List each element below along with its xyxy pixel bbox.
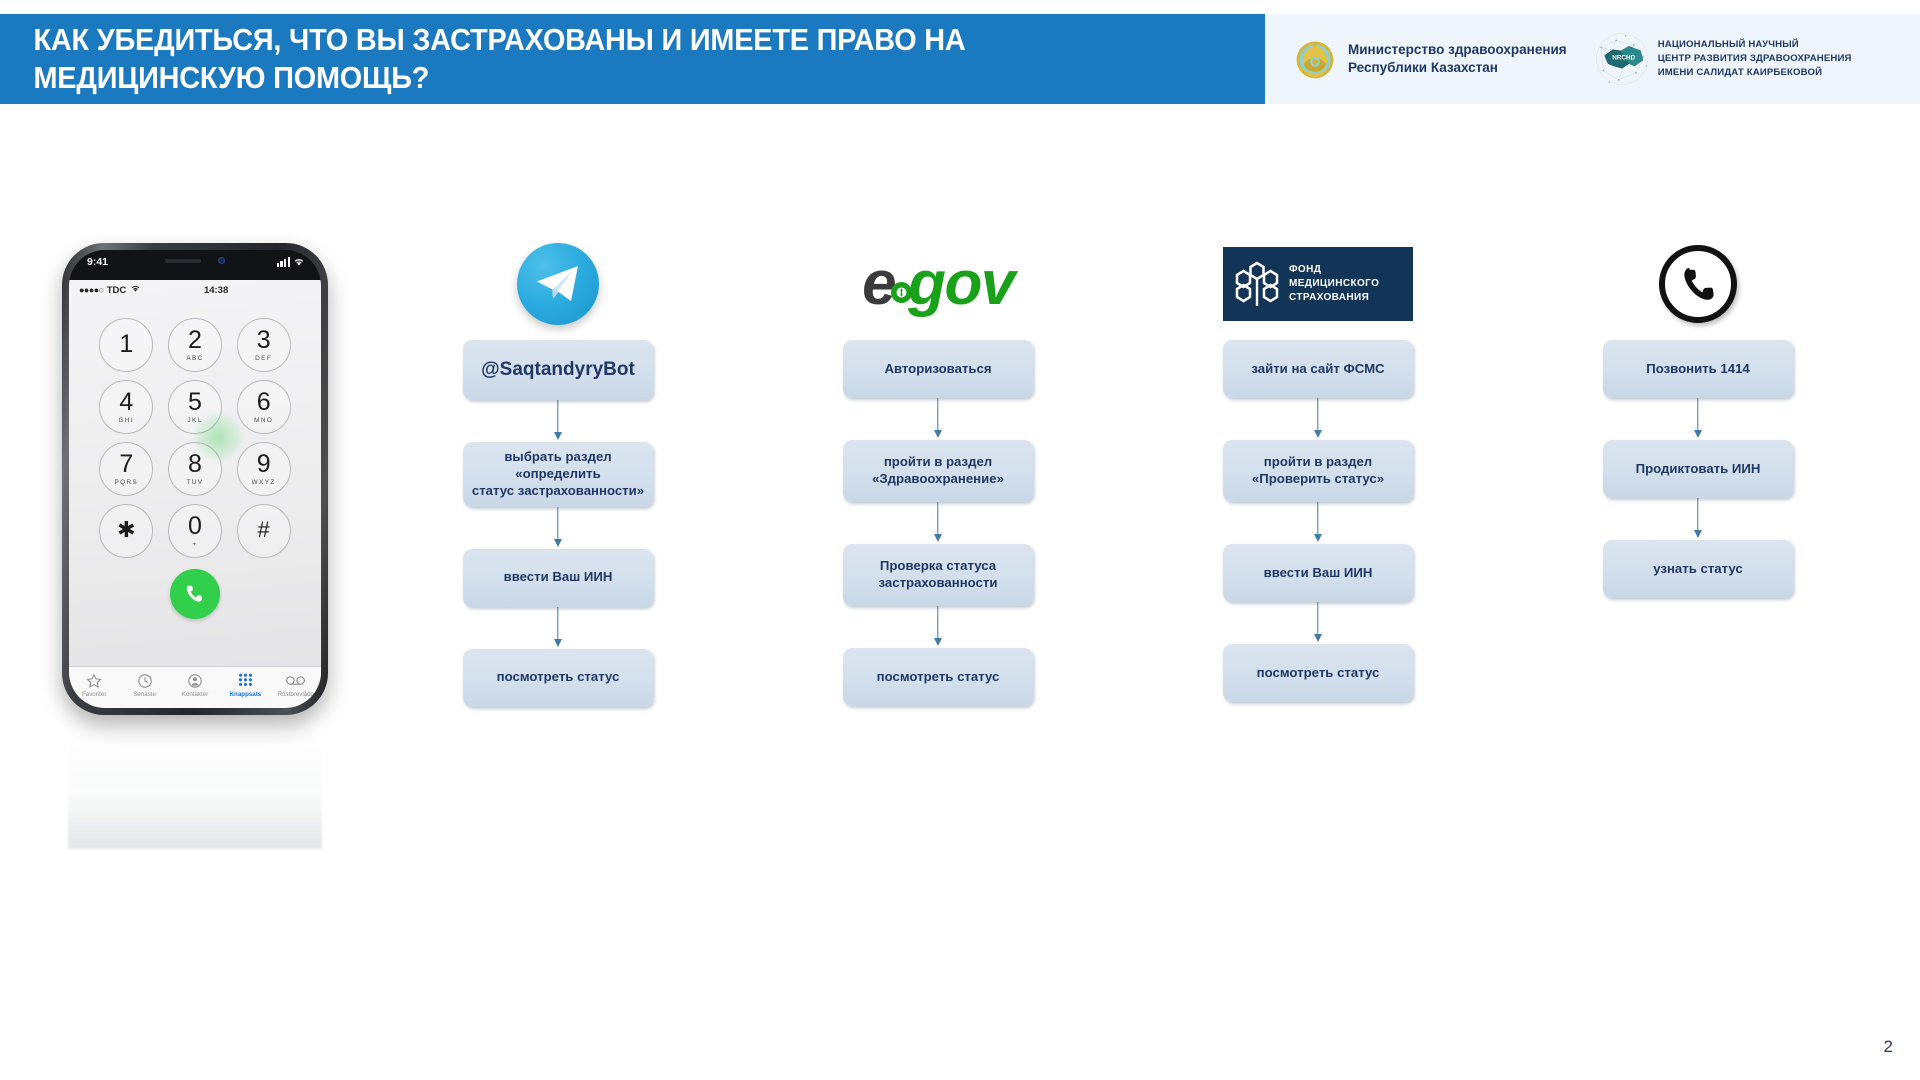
step-flow: @SaqtandyryBot выбрать раздел «определит… (368, 340, 748, 707)
keypad-grid-icon (237, 672, 254, 689)
cellular-bars-icon (277, 257, 290, 267)
key-letters: MNO (254, 417, 273, 424)
egov-letter-e: e (862, 259, 895, 309)
page-title: КАК УБЕДИТЬСЯ, ЧТО ВЫ ЗАСТРАХОВАНЫ И ИМЕ… (0, 21, 993, 98)
key-digit: 2 (188, 328, 202, 353)
step-flow: Авторизоваться пройти в раздел «Здравоох… (748, 340, 1128, 706)
phone-reflection (68, 717, 322, 849)
tab-senaste[interactable]: Senaste (119, 672, 169, 698)
dial-key-9[interactable]: 9 WXYZ (237, 442, 291, 496)
key-digit: 6 (257, 390, 271, 415)
fsms-logo-text: ФОНД МЕДИЦИНСКОГО СТРАХОВАНИЯ (1289, 263, 1379, 306)
step-box[interactable]: ввести Ваш ИИН (1223, 544, 1413, 602)
earpiece-speaker (165, 259, 201, 263)
key-letters: PQRS (114, 479, 138, 486)
step-box[interactable]: Авторизоваться (843, 340, 1033, 398)
flow-arrow-icon (1311, 398, 1325, 440)
nrchd-mark-label: NRCHD (1612, 55, 1635, 62)
person-icon (187, 672, 203, 689)
dial-key-7[interactable]: 7 PQRS (99, 442, 153, 496)
tab-label: Senaste (133, 691, 156, 698)
key-digit: 7 (119, 452, 133, 477)
voicemail-icon (286, 672, 305, 689)
key-digit: 5 (188, 390, 202, 415)
column-fsms: ФОНД МЕДИЦИНСКОГО СТРАХОВАНИЯ зайти на с… (1128, 228, 1508, 838)
dialer-tab-bar[interactable]: Favoriter Senaste Kontakter (69, 666, 321, 708)
key-digit: 8 (188, 452, 202, 477)
dial-key-hash[interactable]: # (237, 504, 291, 558)
flow-arrow-icon (931, 606, 945, 648)
tab-favoriter[interactable]: Favoriter (69, 672, 119, 698)
step-box[interactable]: Позвонить 1414 (1603, 340, 1793, 398)
dial-key-4[interactable]: 4 GHI (99, 380, 153, 434)
status-bar-time: 9:41 (87, 256, 108, 268)
phone-mockup: 9:41 ●●●●○ (62, 243, 328, 733)
step-box[interactable]: Продиктовать ИИН (1603, 440, 1793, 498)
carrier-name: TDC (107, 285, 127, 296)
step-box[interactable]: пройти в раздел «Проверить статус» (1223, 440, 1413, 502)
flow-arrow-icon (551, 400, 565, 442)
step-box[interactable]: посмотреть статус (1223, 644, 1413, 702)
column-logo (1659, 228, 1737, 340)
step-box[interactable]: зайти на сайт ФСМС (1223, 340, 1413, 398)
call-button[interactable] (170, 569, 220, 619)
tab-label: Knappsats (230, 691, 262, 698)
column-logo: ФОНД МЕДИЦИНСКОГО СТРАХОВАНИЯ (1223, 228, 1413, 340)
header-logo-group: Министерство здравоохранения Республики … (1278, 14, 1920, 104)
key-digit: 4 (119, 390, 133, 415)
star-icon (86, 672, 102, 689)
key-letters: DEF (255, 355, 272, 362)
clock-icon (137, 672, 153, 689)
phone-call-circle-icon (1659, 245, 1737, 323)
key-digit: ✱ (117, 519, 135, 541)
wifi-icon (130, 284, 141, 296)
dial-key-0[interactable]: 0 + (168, 504, 222, 558)
step-box[interactable]: пройти в раздел «Здравоохранение» (843, 440, 1033, 502)
flow-arrow-icon (551, 507, 565, 549)
wifi-icon (293, 257, 305, 267)
column-logo (517, 228, 599, 340)
dial-key-1[interactable]: 1 (99, 318, 153, 372)
column-egov: e gov Авторизоваться пройти в раздел «Зд… (748, 228, 1128, 838)
phone-shell: 9:41 ●●●●○ (62, 243, 328, 715)
key-letters: + (192, 541, 197, 548)
egov-word-gov: gov (908, 259, 1014, 309)
tab-rostbrevlada[interactable]: Röstbrevlåda (271, 672, 321, 698)
key-digit: 9 (257, 452, 271, 477)
signal-dots-icon: ●●●●○ (79, 285, 104, 295)
telegram-icon (517, 243, 599, 325)
key-digit: 0 (188, 514, 202, 539)
page-number: 2 (1884, 1037, 1893, 1057)
fsms-hexagon-flower-icon (1234, 259, 1280, 309)
tab-knappsats[interactable]: Knappsats (220, 672, 270, 698)
key-digit: # (258, 519, 270, 541)
flow-arrow-icon (931, 502, 945, 544)
step-box[interactable]: узнать статус (1603, 540, 1793, 598)
flow-arrow-icon (551, 607, 565, 649)
step-box[interactable]: ввести Ваш ИИН (463, 549, 653, 607)
phone-handset-icon (183, 582, 207, 606)
nrchd-logo-text: НАЦИОНАЛЬНЫЙ НАУЧНЫЙ ЦЕНТР РАЗВИТИЯ ЗДРА… (1658, 38, 1852, 80)
call-button-reflection (194, 413, 242, 461)
tab-label: Kontakter (182, 691, 208, 698)
ministry-logo-text: Министерство здравоохранения Республики … (1348, 41, 1567, 77)
front-camera-icon (218, 257, 225, 264)
phone-screen: 9:41 ●●●●○ (69, 250, 321, 708)
dialer-app-screen: ●●●●○ TDC 14:38 1 (69, 280, 321, 708)
dial-key-6[interactable]: 6 MNO (237, 380, 291, 434)
column-call-center: Позвонить 1414 Продиктовать ИИН узнать с… (1508, 228, 1888, 838)
egov-dot-icon (891, 282, 912, 303)
flow-arrow-icon (1311, 602, 1325, 644)
kazakhstan-emblem-icon (1292, 36, 1338, 82)
tab-kontakter[interactable]: Kontakter (170, 672, 220, 698)
step-box[interactable]: Проверка статуса застрахованности (843, 544, 1033, 606)
dial-key-star[interactable]: ✱ (99, 504, 153, 558)
egov-logo-icon: e gov (862, 259, 1014, 309)
status-bar-indicators (277, 257, 305, 267)
key-letters: GHI (119, 417, 135, 424)
key-letters: TUV (186, 479, 203, 486)
key-letters: WXYZ (252, 479, 276, 486)
method-columns: @SaqtandyryBot выбрать раздел «определит… (368, 228, 1888, 838)
title-banner: КАК УБЕДИТЬСЯ, ЧТО ВЫ ЗАСТРАХОВАНЫ И ИМЕ… (0, 14, 1265, 104)
dial-key-3[interactable]: 3 DEF (237, 318, 291, 372)
column-telegram: @SaqtandyryBot выбрать раздел «определит… (368, 228, 748, 838)
step-box[interactable]: выбрать раздел «определить статус застра… (463, 442, 653, 507)
nrchd-map-icon: NRCHD (1593, 30, 1651, 88)
carrier-status-bar: ●●●●○ TDC 14:38 (69, 280, 321, 300)
key-digit: 1 (119, 332, 133, 357)
flow-arrow-icon (1311, 502, 1325, 544)
key-digit: 3 (257, 328, 271, 353)
tab-label: Favoriter (82, 691, 106, 698)
key-letters: ABC (186, 355, 203, 362)
step-box[interactable]: @SaqtandyryBot (463, 340, 653, 400)
step-box[interactable]: посмотреть статус (843, 648, 1033, 706)
step-box[interactable]: посмотреть статус (463, 649, 653, 707)
carrier-clock: 14:38 (204, 285, 228, 296)
tab-label: Röstbrevlåda (278, 691, 314, 698)
phone-notch (143, 250, 247, 271)
column-logo: e gov (862, 228, 1014, 340)
step-flow: Позвонить 1414 Продиктовать ИИН узнать с… (1508, 340, 1888, 598)
flow-arrow-icon (1691, 398, 1705, 440)
flow-arrow-icon (1691, 498, 1705, 540)
flow-arrow-icon (931, 398, 945, 440)
dial-key-2[interactable]: 2 ABC (168, 318, 222, 372)
fsms-logo-icon: ФОНД МЕДИЦИНСКОГО СТРАХОВАНИЯ (1223, 247, 1413, 321)
step-flow: зайти на сайт ФСМС пройти в раздел «Пров… (1128, 340, 1508, 702)
